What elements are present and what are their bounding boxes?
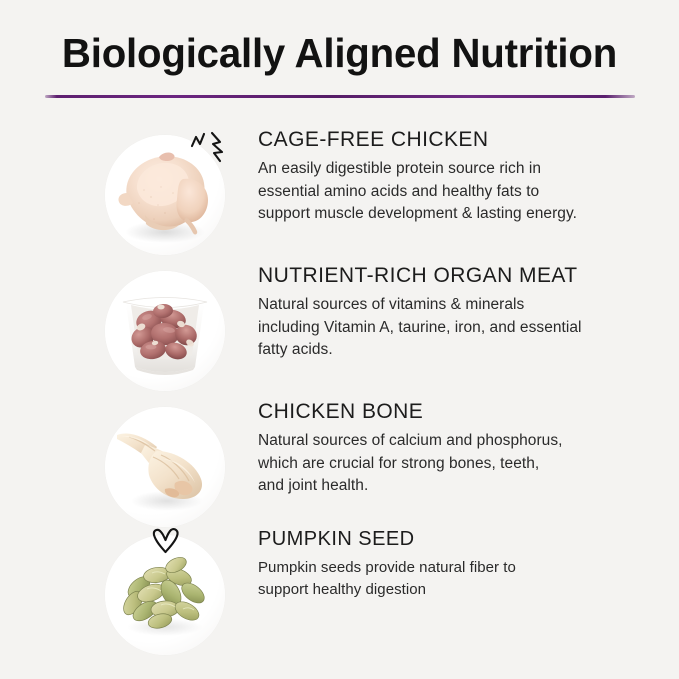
nutrition-infographic: Biologically Aligned Nutrition: [0, 0, 679, 679]
description-line: An easily digestible protein source rich…: [258, 158, 606, 181]
description-line: and joint health.: [258, 475, 606, 498]
description-line: support healthy digestion: [258, 579, 606, 601]
ingredient-copy: CAGE-FREE CHICKEN An easily digestible p…: [258, 128, 606, 226]
page-title: Biologically Aligned Nutrition: [7, 30, 672, 77]
ingredient-copy: NUTRIENT-RICH ORGAN MEAT Natural sources…: [258, 264, 606, 362]
page-title-container: Biologically Aligned Nutrition: [0, 30, 679, 77]
pumpkin-seeds-photo: [105, 535, 225, 655]
organ-meat-illustration: [105, 271, 225, 391]
chicken-wing-bone-photo: [105, 407, 225, 527]
description-line: which are crucial for strong bones, teet…: [258, 453, 606, 476]
title-divider-rule: [45, 95, 635, 98]
description-line: fatty acids.: [258, 339, 606, 362]
ingredient-heading: CHICKEN BONE: [258, 400, 606, 425]
description-line: Natural sources of calcium and phosphoru…: [258, 430, 606, 453]
ingredient-heading: CAGE-FREE CHICKEN: [258, 128, 606, 153]
ingredient-heading: NUTRIENT-RICH ORGAN MEAT: [258, 264, 606, 289]
pumpkin-seeds-illustration: [105, 535, 225, 655]
ingredient-thumbnail: [105, 135, 225, 255]
ingredient-description: Natural sources of calcium and phosphoru…: [258, 430, 606, 498]
description-line: Natural sources of vitamins & minerals: [258, 294, 606, 317]
ingredient-description: An easily digestible protein source rich…: [258, 158, 606, 226]
description-line: support muscle development & lasting ene…: [258, 203, 606, 226]
ingredient-copy: PUMPKIN SEED Pumpkin seeds provide natur…: [258, 528, 606, 601]
description-line: Pumpkin seeds provide natural fiber to: [258, 557, 606, 579]
ingredient-description: Pumpkin seeds provide natural fiber to s…: [258, 557, 606, 601]
ingredient-description: Natural sources of vitamins & minerals i…: [258, 294, 606, 362]
chicken-wing-illustration: [105, 407, 225, 527]
ingredient-copy: CHICKEN BONE Natural sources of calcium …: [258, 400, 606, 498]
ingredient-heading: PUMPKIN SEED: [258, 528, 606, 552]
ingredient-thumbnail: [105, 271, 225, 391]
chicken-illustration: [105, 135, 225, 255]
ingredient-thumbnail: [105, 407, 225, 527]
description-line: including Vitamin A, taurine, iron, and …: [258, 317, 606, 340]
ingredient-thumbnail: [105, 535, 225, 655]
description-line: essential amino acids and healthy fats t…: [258, 181, 606, 204]
organ-meat-bowl-photo: [105, 271, 225, 391]
whole-raw-chicken-photo: [105, 135, 225, 255]
